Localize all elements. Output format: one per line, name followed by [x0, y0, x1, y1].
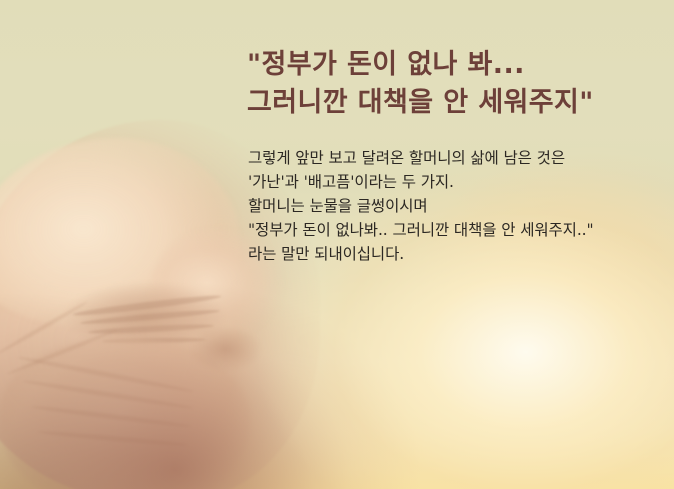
headline-line-2: 그러니깐 대책을 안 세워주지" — [247, 84, 594, 122]
portrait-eyelid-crease — [72, 293, 222, 318]
portrait-eye-socket — [60, 282, 230, 356]
portrait-wrinkle — [23, 379, 194, 411]
portrait-eyelid-crease — [80, 308, 220, 326]
text-content-area: "정부가 돈이 없나 봐... 그러니깐 대책을 안 세워주지" 그렇게 앞만 … — [247, 0, 667, 489]
portrait-eyelid-crease — [88, 323, 214, 336]
portrait-wrinkle — [0, 300, 88, 355]
portrait-forehead — [0, 138, 240, 328]
portrait-wrinkle — [6, 328, 119, 377]
portrait-cheek — [0, 338, 250, 489]
poster-canvas: "정부가 돈이 없나 봐... 그러니깐 대책을 안 세워주지" 그렇게 앞만 … — [0, 0, 674, 489]
body-line-5: 라는 말만 되내이십니다. — [248, 242, 594, 266]
headline-line-1: "정부가 돈이 없나 봐... — [247, 46, 594, 84]
portrait-wrinkle — [17, 355, 195, 394]
body-paragraph: 그렇게 앞만 보고 달려온 할머니의 삶에 남은 것은 '가난'과 '배고픔'이… — [248, 146, 594, 266]
portrait-wrinkle — [30, 404, 191, 429]
portrait-wrinkle — [38, 429, 188, 447]
body-line-2: '가난'과 '배고픔'이라는 두 가지. — [248, 170, 594, 194]
body-line-4: "정부가 돈이 없나봐.. 그러니깐 대책을 안 세워주지.." — [248, 218, 594, 242]
body-line-1: 그렇게 앞만 보고 달려온 할머니의 삶에 남은 것은 — [248, 146, 594, 170]
body-line-3: 할머니는 눈물을 글썽이시며 — [248, 194, 594, 218]
headline-quote: "정부가 돈이 없나 봐... 그러니깐 대책을 안 세워주지" — [247, 46, 594, 122]
portrait-eyelid-crease — [102, 337, 206, 344]
